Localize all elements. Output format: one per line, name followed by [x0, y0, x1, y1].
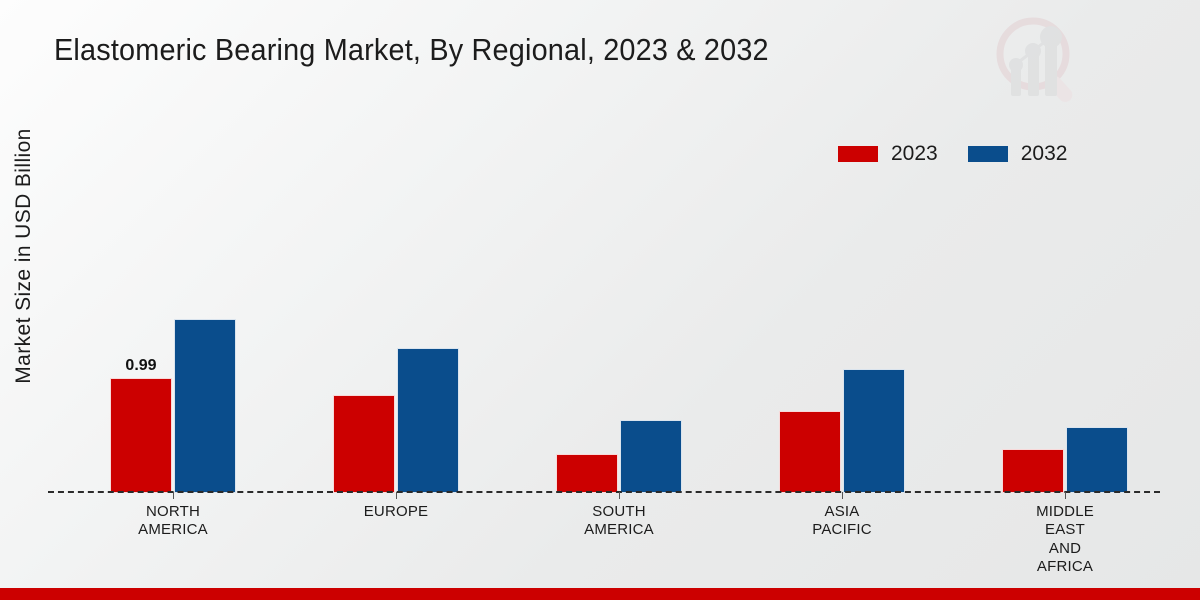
x-tick-middle-east-and-africa	[1065, 492, 1066, 499]
y-axis-title: Market Size in USD Billion	[12, 86, 36, 426]
x-label-europe-line-1: EUROPE	[311, 503, 481, 521]
x-label-south-america: SOUTH AMERICA	[534, 503, 704, 540]
bar-group-south-america	[556, 110, 682, 493]
x-tick-europe	[396, 492, 397, 499]
x-label-north-america: NORTH AMERICA	[88, 503, 258, 540]
chart-figure: Elastomeric Bearing Market, By Regional,…	[0, 0, 1200, 600]
bar-2023-south-america[interactable]	[556, 454, 618, 493]
bar-2032-middle-east-and-africa[interactable]	[1066, 427, 1128, 493]
bar-2032-south-america[interactable]	[620, 420, 682, 493]
x-label-mea-line-1: MIDDLE	[980, 503, 1150, 521]
x-tick-north-america	[173, 492, 174, 499]
bar-2023-middle-east-and-africa[interactable]	[1002, 449, 1064, 493]
x-label-asia-pacific-line-1: ASIA	[757, 503, 927, 521]
x-label-mea-line-3: AND	[980, 540, 1150, 558]
bar-2032-asia-pacific[interactable]	[843, 369, 905, 493]
bar-group-middle-east-and-africa	[1002, 110, 1128, 493]
bar-group-north-america: 0.99	[110, 110, 236, 493]
watermark-logo-icon	[985, 8, 1090, 108]
x-axis-baseline	[48, 491, 1160, 493]
x-label-asia-pacific: ASIA PACIFIC	[757, 503, 927, 540]
x-label-europe: EUROPE	[311, 503, 481, 521]
bar-2023-europe[interactable]	[333, 395, 395, 493]
bar-2032-europe[interactable]	[397, 348, 459, 493]
bar-2023-north-america[interactable]	[110, 378, 172, 493]
x-tick-asia-pacific	[842, 492, 843, 499]
x-label-north-america-line-2: AMERICA	[88, 521, 258, 539]
bar-2023-asia-pacific[interactable]	[779, 411, 841, 493]
plot-area: 0.99	[48, 110, 1160, 493]
x-label-mea-line-4: AFRICA	[980, 558, 1150, 576]
footer-stripe	[0, 588, 1200, 600]
bar-2032-north-america[interactable]	[174, 319, 236, 493]
x-tick-south-america	[619, 492, 620, 499]
bar-group-asia-pacific	[779, 110, 905, 493]
x-label-north-america-line-1: NORTH	[88, 503, 258, 521]
bar-group-europe	[333, 110, 459, 493]
bar-value-label-north-america-2023: 0.99	[96, 358, 186, 374]
x-label-asia-pacific-line-2: PACIFIC	[757, 521, 927, 539]
chart-title: Elastomeric Bearing Market, By Regional,…	[54, 32, 769, 68]
x-label-mea-line-2: EAST	[980, 521, 1150, 539]
x-label-south-america-line-2: AMERICA	[534, 521, 704, 539]
x-label-middle-east-and-africa: MIDDLE EAST AND AFRICA	[980, 503, 1150, 576]
x-label-south-america-line-1: SOUTH	[534, 503, 704, 521]
